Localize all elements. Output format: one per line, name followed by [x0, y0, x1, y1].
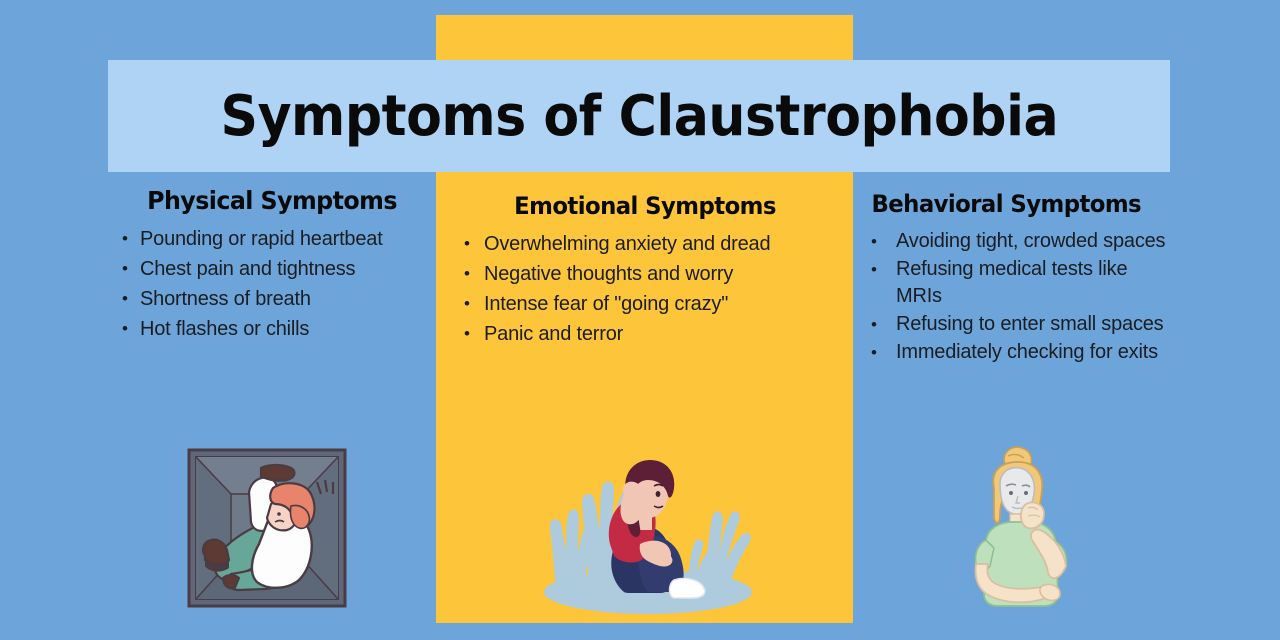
title-banner: Symptoms of Claustrophobia [108, 60, 1170, 172]
anxious-woman-biting-nails-illustration [950, 444, 1090, 620]
page-title: Symptoms of Claustrophobia [220, 84, 1058, 149]
list-emotional-symptoms: Overwhelming anxiety and dread Negative … [440, 230, 850, 348]
list-item: Negative thoughts and worry [440, 260, 850, 288]
list-item: Overwhelming anxiety and dread [440, 230, 850, 258]
person-surrounded-by-reaching-hands-illustration [528, 432, 764, 622]
column-physical-symptoms: Physical Symptoms Pounding or rapid hear… [108, 186, 436, 345]
list-item: Hot flashes or chills [108, 315, 436, 343]
column-emotional-symptoms: Emotional Symptoms Overwhelming anxiety … [440, 192, 850, 350]
list-item: Refusing to enter small spaces [858, 311, 1168, 338]
list-item: Shortness of breath [108, 285, 436, 313]
heading-emotional-symptoms: Emotional Symptoms [450, 192, 840, 220]
column-behavioral-symptoms: Behavioral Symptoms Avoiding tight, crow… [858, 190, 1168, 367]
list-item: Intense fear of "going crazy" [440, 290, 850, 318]
heading-physical-symptoms: Physical Symptoms [116, 186, 428, 215]
heading-behavioral-symptoms: Behavioral Symptoms [866, 190, 1161, 218]
infographic-poster: Symptoms of Claustrophobia Physical Symp… [0, 0, 1280, 640]
list-item: Avoiding tight, crowded spaces [858, 228, 1168, 255]
list-item: Chest pain and tightness [108, 255, 436, 283]
list-item: Refusing medical tests like MRIs [858, 256, 1168, 310]
list-item: Panic and terror [440, 320, 850, 348]
list-item: Immediately checking for exits [858, 339, 1168, 366]
list-physical-symptoms: Pounding or rapid heartbeat Chest pain a… [108, 225, 436, 343]
list-behavioral-symptoms: Avoiding tight, crowded spaces Refusing … [858, 228, 1168, 366]
person-curled-inside-small-box-illustration [187, 448, 347, 608]
list-item: Pounding or rapid heartbeat [108, 225, 436, 253]
